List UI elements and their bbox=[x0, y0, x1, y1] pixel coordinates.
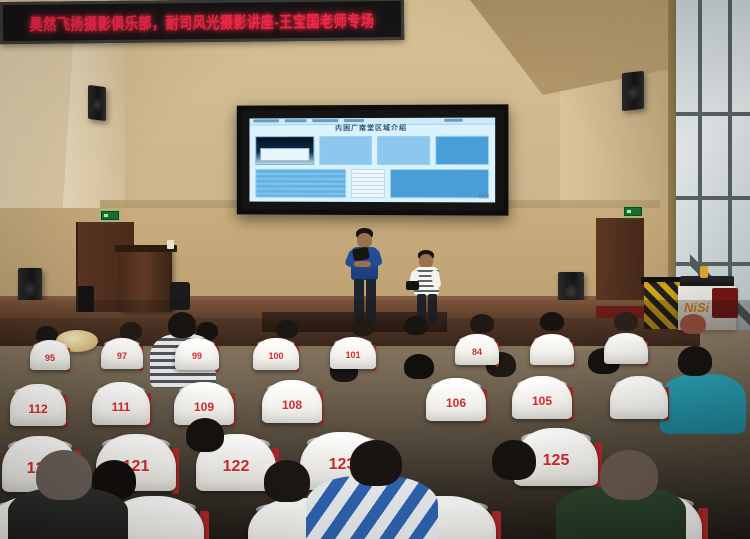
seat-number: 97 bbox=[101, 351, 143, 361]
audience-head bbox=[614, 312, 638, 331]
audience-head bbox=[276, 320, 298, 338]
led-scrolling-banner: 昊然飞扬摄影俱乐部，耐司风光摄影讲座-王宝国老师专场 bbox=[0, 0, 404, 44]
foreground-head bbox=[600, 450, 658, 500]
audience-head bbox=[186, 418, 224, 452]
slide-row-bottom bbox=[255, 169, 489, 198]
assistant-head bbox=[419, 254, 433, 268]
held-camera-icon bbox=[406, 281, 419, 290]
slide-title: 内困广南堂区域介绍 bbox=[335, 123, 407, 133]
slide-panel bbox=[435, 136, 489, 165]
seat-cover: 108 bbox=[262, 380, 322, 423]
seat-number: 109 bbox=[174, 400, 234, 414]
door-right[interactable] bbox=[596, 218, 644, 300]
screen-brand-label: DLP bbox=[479, 194, 489, 200]
seat-cover bbox=[530, 334, 574, 365]
audience-head bbox=[678, 346, 712, 376]
slide-toolbar-item bbox=[253, 119, 278, 122]
loudspeaker-icon bbox=[88, 85, 106, 121]
exit-sign-icon bbox=[624, 207, 642, 216]
presenter-head bbox=[357, 233, 372, 248]
audience-head bbox=[404, 354, 434, 379]
seat-number: 99 bbox=[175, 351, 219, 361]
seat-cover: 112 bbox=[10, 384, 66, 426]
seat-cover: 99 bbox=[175, 338, 219, 370]
slide-content bbox=[249, 125, 495, 203]
seat-number: 101 bbox=[330, 350, 376, 360]
auditorium-photo: 昊然飞扬摄影俱乐部，耐司风光摄影讲座-王宝国老师专场 内困广南堂区域介绍 bbox=[0, 0, 750, 539]
audience-head bbox=[168, 312, 196, 338]
seat-number: 108 bbox=[262, 398, 322, 412]
slide-panel-thumbnail bbox=[255, 136, 314, 165]
seat-cover bbox=[604, 333, 648, 364]
slide-toolbar-item bbox=[444, 119, 462, 122]
audience-head bbox=[264, 460, 310, 502]
audience-person-torso bbox=[660, 374, 746, 434]
audience-seating: 9597991001018411211110910810610512012112… bbox=[0, 300, 750, 539]
shelf-object bbox=[700, 266, 708, 278]
audience-head bbox=[492, 440, 536, 480]
audience-head bbox=[352, 318, 374, 336]
slide-panel bbox=[255, 169, 345, 198]
slide-row-top bbox=[255, 136, 489, 165]
seat-cover: 84 bbox=[455, 334, 499, 365]
seat-number: 111 bbox=[92, 400, 150, 414]
window-mullion-horizontal bbox=[676, 112, 750, 116]
projection-screen: 内困广南堂区域介绍 DLP bbox=[237, 104, 509, 215]
slide-toolbar-item bbox=[344, 119, 364, 122]
foreground-head bbox=[36, 450, 92, 500]
seat-number: 122 bbox=[196, 458, 276, 476]
slide-panel bbox=[320, 136, 373, 165]
loudspeaker-icon bbox=[622, 71, 644, 111]
audience-head bbox=[404, 316, 428, 335]
seat-cover: 100 bbox=[253, 338, 299, 370]
seat-number: 100 bbox=[253, 351, 299, 361]
exit-sign-icon bbox=[101, 211, 119, 220]
led-banner-text: 昊然飞扬摄影俱乐部，耐司风光摄影讲座-王宝国老师专场 bbox=[29, 7, 374, 34]
seat-number: 105 bbox=[512, 394, 572, 408]
seat-cover: 111 bbox=[92, 382, 150, 425]
slide-thumbnail-caption bbox=[260, 148, 310, 161]
seat-cover: 101 bbox=[330, 337, 376, 369]
seat-number: 84 bbox=[455, 347, 499, 357]
seat-cover bbox=[610, 376, 668, 419]
audience-head bbox=[540, 312, 564, 331]
seat-number: 95 bbox=[30, 353, 70, 363]
slide-toolbar-item bbox=[312, 119, 338, 122]
seat-cover: 97 bbox=[101, 338, 143, 369]
seat-number: 106 bbox=[426, 396, 486, 410]
audience-head bbox=[680, 314, 706, 334]
presenter-hands bbox=[354, 261, 371, 267]
audience-head bbox=[470, 314, 494, 333]
slide-toolbar-item bbox=[285, 119, 307, 122]
seat-cover: 106 bbox=[426, 378, 486, 421]
slide-panel bbox=[377, 136, 430, 165]
foreground-head bbox=[350, 440, 402, 486]
seat-cover: 95 bbox=[30, 340, 70, 370]
seat-cover: 105 bbox=[512, 376, 572, 419]
slide-panel-form bbox=[351, 169, 386, 198]
slide-panel bbox=[390, 169, 489, 198]
projected-slide: 内困广南堂区域介绍 DLP bbox=[249, 118, 495, 203]
water-cup bbox=[167, 240, 174, 249]
seat-number: 112 bbox=[10, 402, 66, 416]
window-mullion-horizontal bbox=[676, 196, 750, 200]
